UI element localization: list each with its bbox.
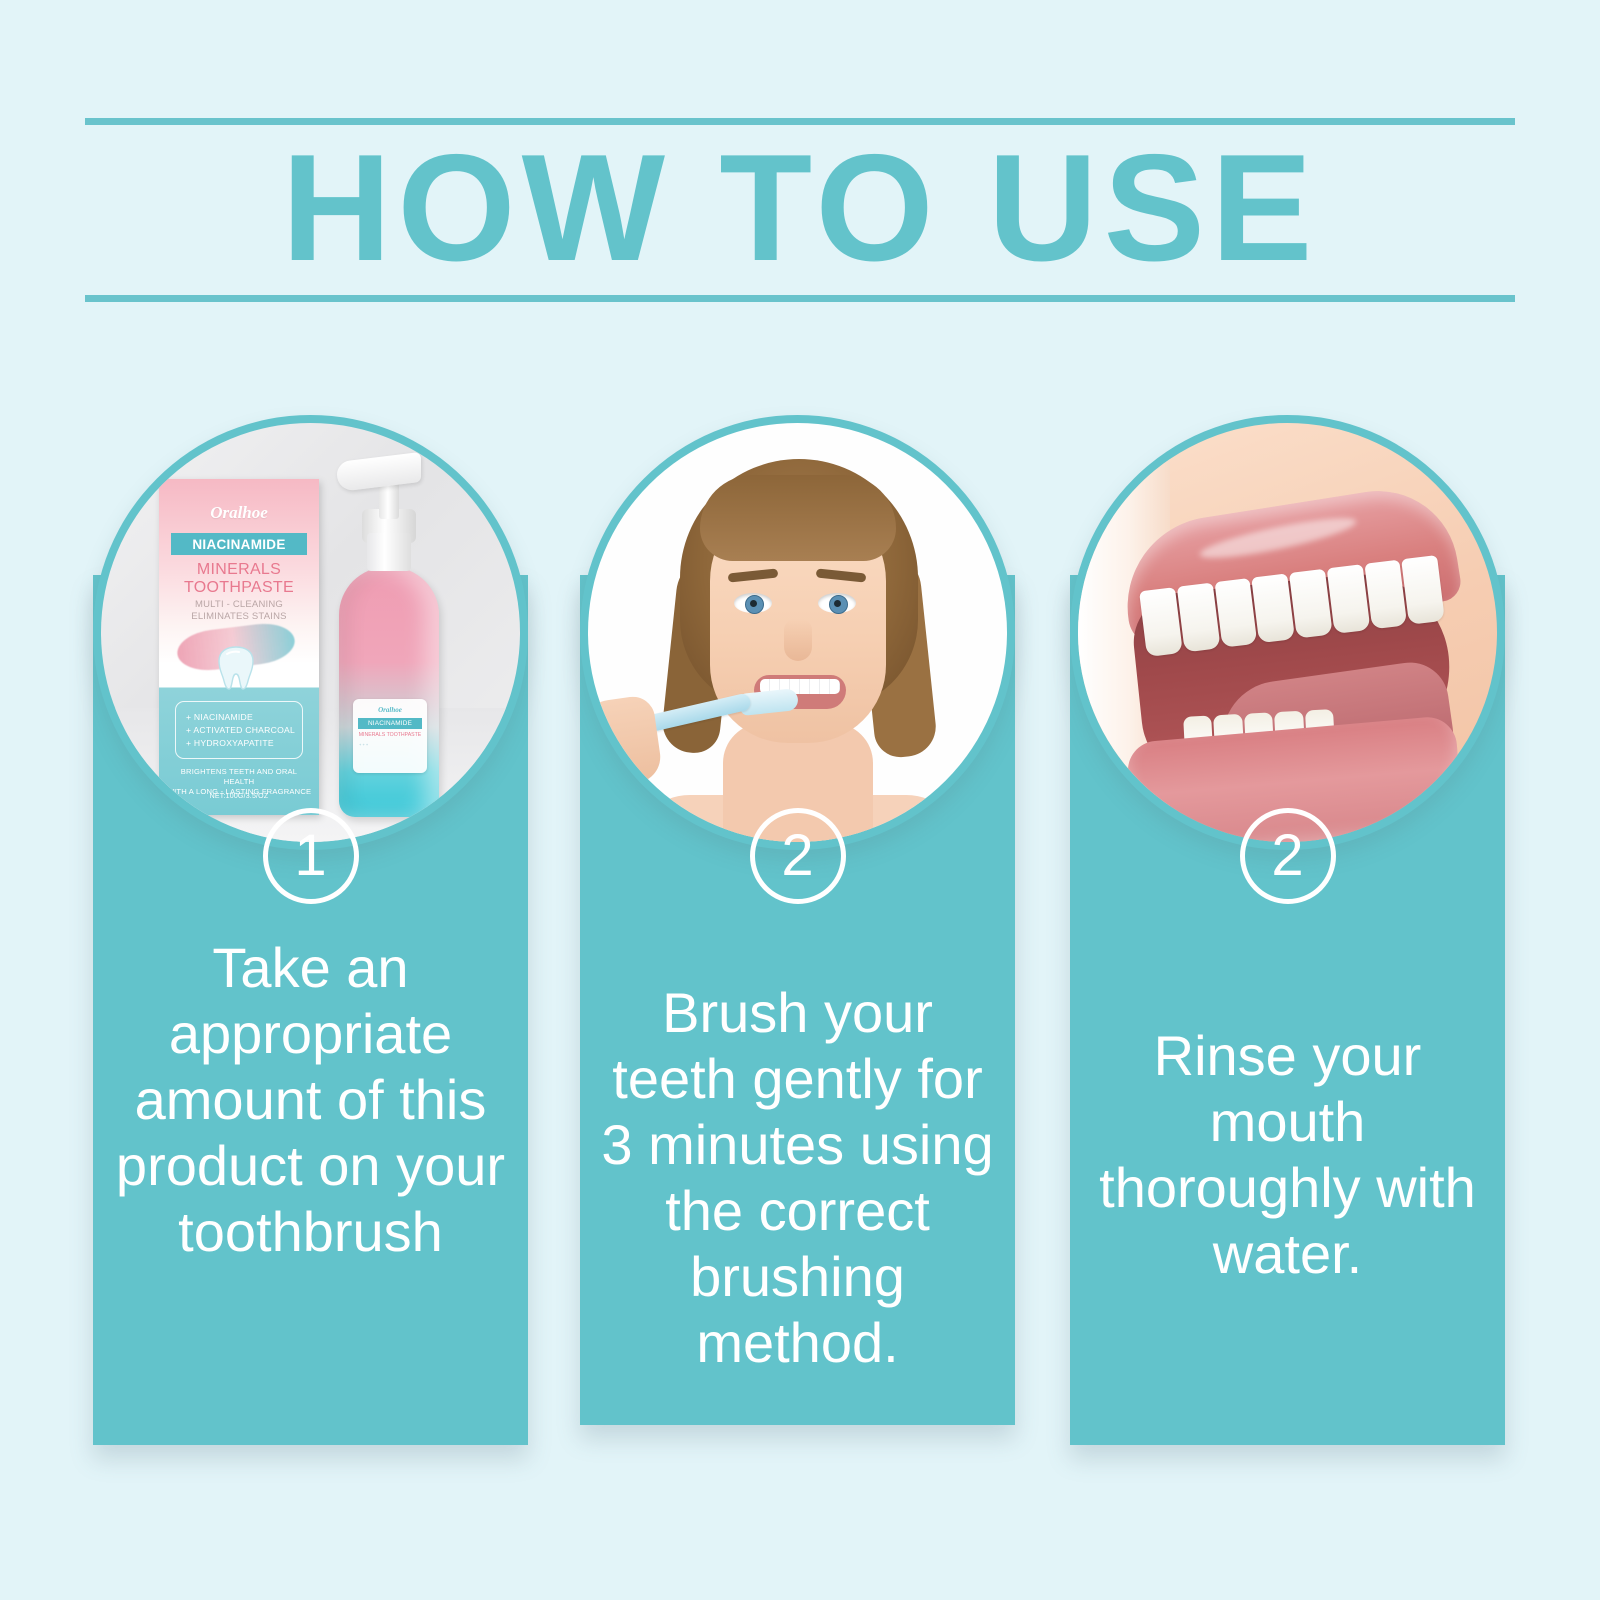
step-caption-1: Take an appropriate amount of this produ… (107, 935, 514, 1265)
tooth (1364, 560, 1408, 630)
page-title: HOW TO USE (85, 126, 1515, 291)
bottle-pump-head (337, 452, 421, 492)
steps-container: Oralhoe NIACINAMIDE MINERALS TOOTHPASTE … (0, 415, 1600, 1465)
pump-bottle: Oralhoe NIACINAMIDE MINERALS TOOTHPASTE … (329, 449, 449, 817)
step-card-3-disc (1070, 415, 1505, 850)
tooth (1326, 564, 1370, 634)
bottle-neck (367, 533, 411, 571)
tooth (1289, 569, 1333, 639)
hand (588, 694, 664, 790)
ingredient-item: + HYDROXYAPATITE (186, 738, 302, 748)
bottle-liquid (339, 567, 439, 817)
bottle-label-highlight: NIACINAMIDE (358, 718, 422, 729)
brushing-photo (588, 423, 1007, 842)
open-mouth-photo (1078, 423, 1497, 842)
tooth (1252, 573, 1296, 643)
hair-fringe (700, 475, 896, 561)
title-rule-bottom (85, 295, 1515, 302)
product-name: MINERALS TOOTHPASTE (159, 561, 319, 597)
step-badge-2: 2 (750, 808, 846, 904)
ingredient-item: + ACTIVATED CHARCOAL (186, 725, 302, 735)
product-sub-line-2: ELIMINATES STAINS (159, 611, 319, 623)
step-card-2[interactable]: 2 Brush your teeth gently for 3 minutes … (580, 415, 1015, 1425)
pupil-left (750, 600, 757, 607)
product-subtitle: MULTI - CLEANING ELIMINATES STAINS (159, 599, 319, 623)
step-card-2-disc (580, 415, 1015, 850)
product-sub-line-1: MULTI - CLEANING (159, 599, 319, 611)
infographic-page: HOW TO USE Oralhoe NIACINAMIDE MINERALS … (0, 0, 1600, 1600)
product-box: Oralhoe NIACINAMIDE MINERALS TOOTHPASTE … (159, 479, 319, 815)
product-brand: Oralhoe (159, 503, 319, 523)
step-caption-2: Brush your teeth gently for 3 minutes us… (594, 980, 1001, 1376)
step-badge-1: 1 (263, 808, 359, 904)
nose (784, 619, 812, 661)
tooth-icon (215, 645, 257, 691)
pupil-right (834, 600, 841, 607)
step-badge-3: 2 (1240, 808, 1336, 904)
bottle-label-brand: Oralhoe (353, 706, 427, 714)
tooth (1177, 583, 1221, 653)
product-name-line-1: MINERALS (159, 561, 319, 579)
title-block: HOW TO USE (85, 110, 1515, 310)
product-name-line-2: TOOTHPASTE (159, 579, 319, 597)
ingredient-item: + NIACINAMIDE (186, 712, 302, 722)
step-card-1[interactable]: Oralhoe NIACINAMIDE MINERALS TOOTHPASTE … (93, 415, 528, 1445)
step-number-1: 1 (294, 827, 326, 885)
bottle-label-name: MINERALS TOOTHPASTE (353, 732, 427, 738)
bottle-label: Oralhoe NIACINAMIDE MINERALS TOOTHPASTE … (353, 699, 427, 773)
product-photo: Oralhoe NIACINAMIDE MINERALS TOOTHPASTE … (101, 423, 520, 842)
product-net-weight: NET:100G/3.5/OZ (159, 793, 319, 800)
step-card-3[interactable]: 2 Rinse your mouth thoroughly with water… (1070, 415, 1505, 1445)
step-number-2: 2 (781, 827, 813, 885)
step-caption-3: Rinse your mouth thoroughly with water. (1084, 1023, 1491, 1287)
tooth (1214, 578, 1258, 648)
product-highlight-badge: NIACINAMIDE (171, 533, 307, 555)
step-number-3: 2 (1271, 827, 1303, 885)
product-claim-line-1: BRIGHTENS TEETH AND ORAL HEALTH (165, 767, 313, 787)
tooth (1139, 587, 1183, 657)
bottle-label-ingredients: + + + (359, 742, 427, 748)
step-card-1-disc: Oralhoe NIACINAMIDE MINERALS TOOTHPASTE … (93, 415, 528, 850)
ingredient-list: + NIACINAMIDE + ACTIVATED CHARCOAL + HYD… (175, 701, 303, 759)
